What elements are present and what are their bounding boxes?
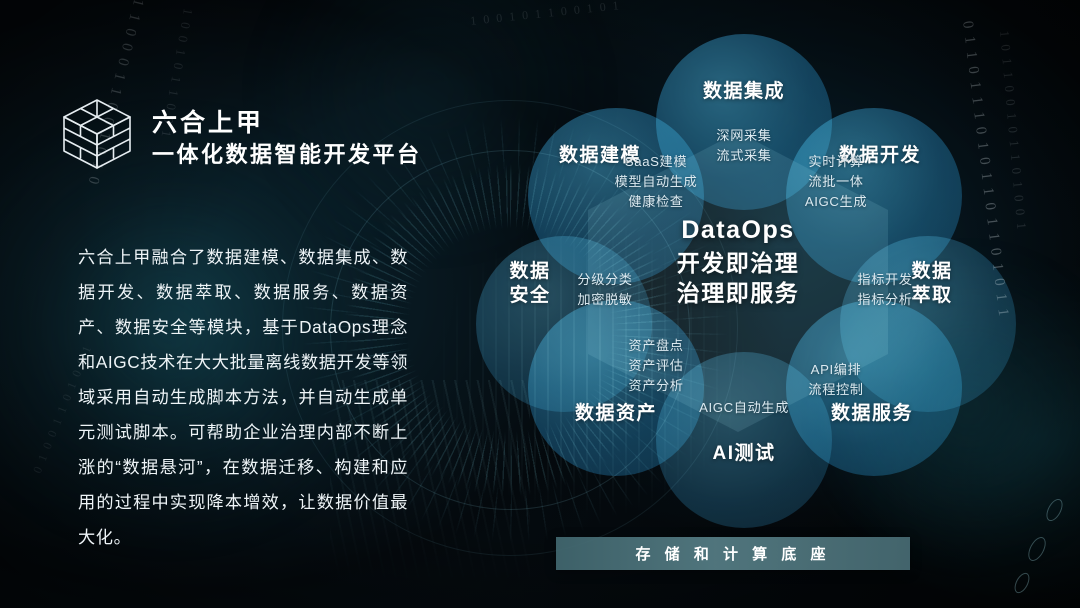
features-data-asset: 资产盘点 资产评估 资产分析 xyxy=(588,336,724,396)
foundation-bar[interactable]: 存 储 和 计 算 底 座 xyxy=(556,537,910,570)
center-slogan-line-1: DataOps xyxy=(623,214,853,248)
slide-canvas: 0 1 1 0 0 0 1 1 0 0 1 0 1 0 1 0 0 1 0 1 … xyxy=(0,0,1080,608)
label-ai-testing: AI测试 xyxy=(664,442,824,466)
features-data-service: API编排 流程控制 xyxy=(768,360,904,400)
features-data-development: 实时计算 流批一体 AIGC生成 xyxy=(768,152,904,212)
isometric-brick-cube-icon xyxy=(60,96,134,180)
center-slogan-line-2: 开发即治理 xyxy=(623,248,853,279)
center-slogan: DataOps 开发即治理 治理即服务 xyxy=(623,214,853,309)
description-paragraph: 六合上甲融合了数据建模、数据集成、数据开发、数据萃取、数据服务、数据资产、数据安… xyxy=(78,240,408,555)
brand-name: 六合上甲 xyxy=(152,110,422,136)
brand-subtitle: 一体化数据智能开发平台 xyxy=(152,143,422,166)
features-ai-testing: AIGC自动生成 xyxy=(674,398,814,418)
features-data-modeling: SaaS建模 模型自动生成 健康检查 xyxy=(588,152,724,212)
capability-venn-diagram: 数据集成 数据建模 数据开发 数据 安全 数据 萃取 数据资产 数据服务 AI测… xyxy=(468,22,1028,522)
foundation-bar-label: 存 储 和 计 算 底 座 xyxy=(635,543,830,564)
brand-block: 六合上甲 一体化数据智能开发平台 xyxy=(60,96,422,180)
center-slogan-line-3: 治理即服务 xyxy=(623,278,853,309)
label-data-integration: 数据集成 xyxy=(664,80,824,104)
